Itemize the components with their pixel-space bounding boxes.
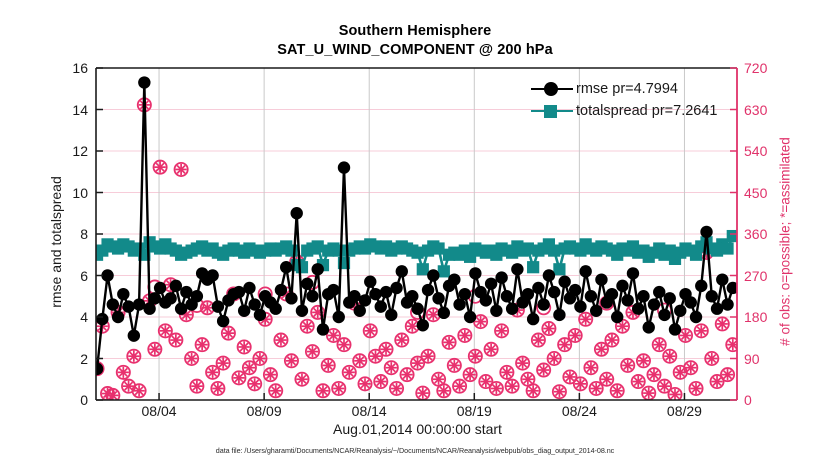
- rmse-marker: [301, 278, 313, 290]
- obs-assimilated-marker: [379, 343, 392, 356]
- obs-assimilated-marker: [185, 352, 198, 365]
- obs-assimilated-marker: [605, 333, 618, 346]
- obs-assimilated-marker: [705, 352, 718, 365]
- legend-label-rmse: rmse pr=4.7994: [574, 81, 678, 97]
- obs-assimilated-marker: [353, 354, 366, 367]
- rmse-marker: [716, 273, 728, 285]
- rmse-marker: [543, 269, 555, 281]
- rmse-marker: [664, 292, 676, 304]
- rmse-marker: [690, 311, 702, 323]
- totalspread-marker: [438, 266, 449, 277]
- obs-assimilated-marker: [548, 352, 561, 365]
- obs-assimilated-marker: [647, 368, 660, 381]
- x-axis-label: Aug.01,2014 00:00:00 start: [95, 421, 740, 437]
- legend-label-totalspread: totalspread pr=7.2641: [574, 103, 717, 119]
- obs-assimilated-marker: [689, 382, 702, 395]
- rmse-marker: [359, 294, 371, 306]
- obs-assimilated-marker: [721, 368, 734, 381]
- rmse-marker: [296, 305, 308, 317]
- rmse-marker: [269, 303, 281, 315]
- rmse-marker: [275, 284, 287, 296]
- rmse-marker: [611, 311, 623, 323]
- chart-legend[interactable]: rmse pr=4.7994totalspread pr=7.2641: [524, 76, 723, 125]
- rmse-marker: [669, 323, 681, 335]
- rmse-marker: [527, 313, 539, 325]
- rmse-marker: [107, 298, 119, 310]
- rmse-marker: [238, 305, 250, 317]
- plot-area: [0, 0, 830, 470]
- obs-assimilated-marker: [316, 384, 329, 397]
- obs-assimilated-marker: [127, 350, 140, 363]
- obs-assimilated-marker: [653, 338, 666, 351]
- rmse-marker: [511, 263, 523, 275]
- obs-assimilated-marker: [175, 163, 188, 176]
- x-tick-label: 08/19: [434, 403, 514, 419]
- rmse-marker: [122, 300, 134, 312]
- obs-assimilated-marker: [490, 382, 503, 395]
- obs-assimilated-marker: [400, 368, 413, 381]
- x-tick-label: 08/14: [329, 403, 409, 419]
- rmse-marker: [706, 290, 718, 302]
- rmse-marker: [422, 284, 434, 296]
- totalspread-marker: [296, 262, 307, 273]
- rmse-marker: [469, 267, 481, 279]
- rmse-marker: [285, 292, 297, 304]
- rmse-marker: [291, 207, 303, 219]
- x-tick-label: 08/04: [119, 403, 199, 419]
- rmse-marker: [574, 300, 586, 312]
- obs-assimilated-marker: [306, 345, 319, 358]
- obs-assimilated-marker: [553, 385, 566, 398]
- rmse-marker: [532, 282, 544, 294]
- obs-assimilated-marker: [506, 380, 519, 393]
- legend-swatch-rmse: [530, 79, 574, 99]
- obs-assimilated-marker: [416, 386, 429, 399]
- x-tick-label: 08/24: [539, 403, 619, 419]
- y-tick-label-left: 16: [42, 60, 88, 76]
- rmse-marker: [306, 290, 318, 302]
- obs-assimilated-marker: [132, 384, 145, 397]
- obs-assimilated-marker: [238, 340, 251, 353]
- rmse-marker: [406, 290, 418, 302]
- totalspread-marker: [433, 243, 444, 254]
- rmse-marker: [464, 311, 476, 323]
- rmse-marker: [390, 282, 402, 294]
- rmse-marker: [700, 226, 712, 238]
- obs-assimilated-marker: [222, 327, 235, 340]
- totalspread-marker: [412, 247, 423, 258]
- x-tick-label: 08/09: [224, 403, 304, 419]
- rmse-marker: [595, 273, 607, 285]
- obs-assimilated-marker: [458, 329, 471, 342]
- rmse-marker: [632, 303, 644, 315]
- rmse-marker: [590, 305, 602, 317]
- rmse-marker: [501, 290, 513, 302]
- obs-assimilated-marker: [716, 317, 729, 330]
- rmse-marker: [548, 286, 560, 298]
- obs-assimilated-marker: [495, 324, 508, 337]
- figure-canvas: Southern Hemisphere SAT_U_WIND_COMPONENT…: [0, 0, 830, 470]
- rmse-marker: [327, 284, 339, 296]
- rmse-marker: [101, 269, 113, 281]
- legend-item-rmse[interactable]: rmse pr=4.7994: [530, 78, 717, 100]
- obs-assimilated-marker: [642, 386, 655, 399]
- rmse-marker: [432, 292, 444, 304]
- y-axis-right-ticks: 090180270360450540630720: [744, 0, 804, 470]
- rmse-marker: [254, 309, 266, 321]
- data-file-note: data file: /Users/gharamti/Documents/NCA…: [0, 446, 830, 455]
- rmse-marker: [616, 280, 628, 292]
- obs-assimilated-marker: [584, 361, 597, 374]
- obs-assimilated-marker: [442, 336, 455, 349]
- totalspread-marker: [554, 264, 565, 275]
- totalspread-marker: [722, 243, 733, 254]
- rmse-marker: [695, 280, 707, 292]
- obs-assimilated-marker: [569, 329, 582, 342]
- obs-assimilated-marker: [663, 350, 676, 363]
- rmse-marker: [338, 161, 350, 173]
- obs-assimilated-marker: [600, 373, 613, 386]
- obs-assimilated-marker: [374, 375, 387, 388]
- rmse-marker: [206, 269, 218, 281]
- rmse-marker: [674, 305, 686, 317]
- legend-circle-icon: [544, 82, 558, 96]
- rmse-marker: [138, 76, 150, 88]
- obs-assimilated-marker: [196, 338, 209, 351]
- rmse-marker: [364, 276, 376, 288]
- obs-assimilated-marker: [437, 384, 450, 397]
- y-axis-left-label: rmse and totalspread: [48, 82, 64, 402]
- obs-assimilated-marker: [364, 324, 377, 337]
- rmse-marker: [411, 303, 423, 315]
- rmse-marker: [643, 321, 655, 333]
- obs-assimilated-marker: [453, 380, 466, 393]
- rmse-marker: [658, 309, 670, 321]
- totalspread-marker: [549, 245, 560, 256]
- obs-assimilated-marker: [190, 380, 203, 393]
- rmse-marker: [485, 278, 497, 290]
- obs-assimilated-marker: [574, 377, 587, 390]
- obs-assimilated-marker: [337, 338, 350, 351]
- rmse-marker: [490, 305, 502, 317]
- rmse-marker: [495, 271, 507, 283]
- rmse-marker: [369, 288, 381, 300]
- rmse-marker: [212, 300, 224, 312]
- obs-assimilated-marker: [637, 354, 650, 367]
- rmse-marker: [537, 298, 549, 310]
- obs-assimilated-marker: [148, 343, 161, 356]
- obs-assimilated-marker: [469, 350, 482, 363]
- rmse-marker: [375, 300, 387, 312]
- obs-assimilated-marker: [285, 354, 298, 367]
- rmse-marker: [154, 282, 166, 294]
- rmse-marker: [417, 319, 429, 331]
- obs-assimilated-marker: [537, 363, 550, 376]
- obs-assimilated-marker: [632, 375, 645, 388]
- rmse-marker: [438, 307, 450, 319]
- obs-assimilated-marker: [301, 320, 314, 333]
- totalspread-marker: [528, 262, 539, 273]
- rmse-marker: [653, 286, 665, 298]
- legend-swatch-totalspread: [530, 101, 574, 121]
- legend-item-totalspread[interactable]: totalspread pr=7.2641: [530, 100, 717, 122]
- rmse-marker: [637, 290, 649, 302]
- rmse-marker: [721, 298, 733, 310]
- totalspread-marker: [417, 264, 428, 275]
- obs-assimilated-marker: [358, 377, 371, 390]
- obs-assimilated-marker: [485, 343, 498, 356]
- rmse-marker: [622, 294, 634, 306]
- rmse-marker: [385, 309, 397, 321]
- rmse-marker: [558, 276, 570, 288]
- obs-assimilated-marker: [527, 384, 540, 397]
- totalspread-series: [91, 230, 738, 276]
- obs-assimilated-marker: [154, 161, 167, 174]
- obs-assimilated-marker: [385, 361, 398, 374]
- obs-assimilated-marker: [211, 382, 224, 395]
- obs-assimilated-marker: [695, 324, 708, 337]
- rmse-marker: [117, 288, 129, 300]
- obs-assimilated-marker: [448, 359, 461, 372]
- rmse-marker: [280, 261, 292, 273]
- rmse-marker: [191, 290, 203, 302]
- obs-assimilated-marker: [668, 388, 681, 401]
- obs-assimilated-marker: [332, 382, 345, 395]
- rmse-marker: [396, 265, 408, 277]
- rmse-marker: [128, 329, 140, 341]
- rmse-marker: [243, 282, 255, 294]
- rmse-marker: [112, 311, 124, 323]
- obs-assimilated-marker: [500, 366, 513, 379]
- totalspread-marker: [522, 243, 533, 254]
- obs-assimilated-marker: [542, 322, 555, 335]
- obs-assimilated-marker: [684, 361, 697, 374]
- obs-assimilated-marker: [295, 373, 308, 386]
- rmse-marker: [627, 267, 639, 279]
- rmse-marker: [480, 294, 492, 306]
- obs-assimilated-marker: [532, 333, 545, 346]
- rmse-marker: [448, 273, 460, 285]
- obs-assimilated-marker: [621, 359, 634, 372]
- rmse-marker: [317, 323, 329, 335]
- obs-assimilated-marker: [390, 382, 403, 395]
- rmse-marker: [506, 303, 518, 315]
- obs-assimilated-marker: [117, 366, 130, 379]
- obs-assimilated-marker: [169, 333, 182, 346]
- obs-assimilated-marker: [269, 384, 282, 397]
- obs-assimilated-marker: [253, 352, 266, 365]
- obs-assimilated-marker: [421, 350, 434, 363]
- rmse-marker: [606, 288, 618, 300]
- rmse-marker: [648, 298, 660, 310]
- obs-assimilated-marker: [248, 377, 261, 390]
- obs-assimilated-marker: [516, 357, 529, 370]
- rmse-marker: [217, 315, 229, 327]
- legend-square-icon: [544, 105, 557, 118]
- rmse-marker: [91, 363, 103, 375]
- rmse-marker: [459, 288, 471, 300]
- data-series-layer: [90, 76, 739, 402]
- y-axis-right-label: # of obs: o=possible; *=assimilated: [778, 77, 793, 407]
- obs-assimilated-marker: [463, 368, 476, 381]
- totalspread-marker: [312, 241, 323, 252]
- y-tick-label-right: 720: [744, 60, 790, 76]
- rmse-marker: [427, 269, 439, 281]
- obs-assimilated-marker: [343, 366, 356, 379]
- x-tick-label: 08/29: [644, 403, 724, 419]
- rmse-marker: [170, 280, 182, 292]
- totalspread-marker: [333, 245, 344, 256]
- obs-assimilated-marker: [322, 359, 335, 372]
- rmse-marker: [685, 296, 697, 308]
- obs-assimilated-marker: [274, 333, 287, 346]
- rmse-marker: [333, 311, 345, 323]
- rmse-marker: [569, 284, 581, 296]
- obs-assimilated-marker: [395, 333, 408, 346]
- rmse-marker: [585, 290, 597, 302]
- obs-assimilated-marker: [611, 384, 624, 397]
- rmse-marker: [312, 263, 324, 275]
- obs-assimilated-marker: [579, 313, 592, 326]
- rmse-marker: [553, 309, 565, 321]
- obs-assimilated-marker: [232, 371, 245, 384]
- obs-assimilated-marker: [264, 368, 277, 381]
- rmse-marker: [96, 313, 108, 325]
- rmse-marker: [164, 292, 176, 304]
- rmse-marker: [522, 288, 534, 300]
- obs-assimilated-marker: [217, 357, 230, 370]
- rmse-marker: [579, 265, 591, 277]
